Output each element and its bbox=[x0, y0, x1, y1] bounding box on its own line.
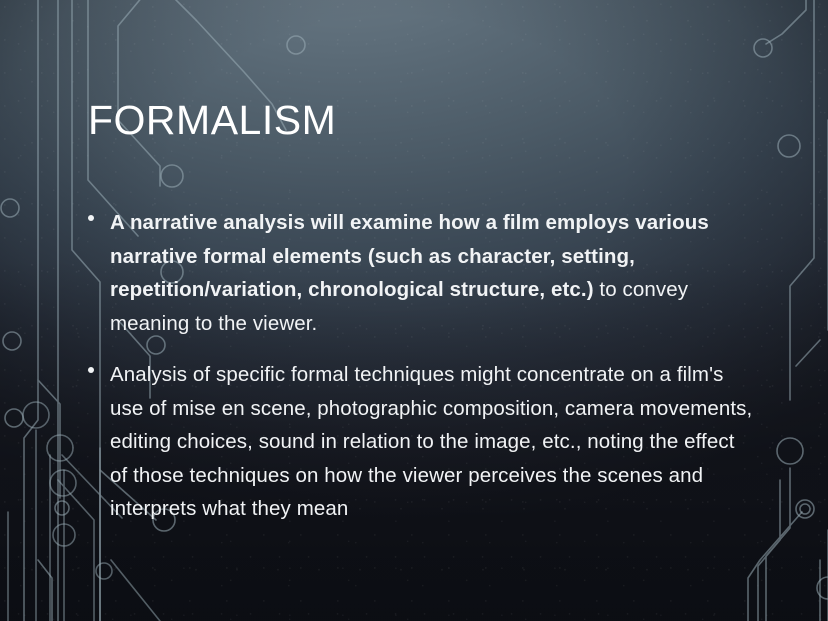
presentation-slide: FORMALISM A narrative analysis will exam… bbox=[0, 0, 828, 621]
page-title: FORMALISM bbox=[88, 97, 336, 144]
bullet-list: A narrative analysis will examine how a … bbox=[84, 206, 756, 544]
bullet-2-text: Analysis of specific formal techniques m… bbox=[110, 358, 756, 526]
bullet-dot-icon bbox=[88, 215, 94, 221]
bullet-dot-icon bbox=[88, 367, 94, 373]
bullet-1-text: A narrative analysis will examine how a … bbox=[110, 206, 756, 340]
list-item: Analysis of specific formal techniques m… bbox=[84, 358, 756, 526]
slide-content: FORMALISM A narrative analysis will exam… bbox=[0, 0, 828, 621]
list-item: A narrative analysis will examine how a … bbox=[84, 206, 756, 340]
